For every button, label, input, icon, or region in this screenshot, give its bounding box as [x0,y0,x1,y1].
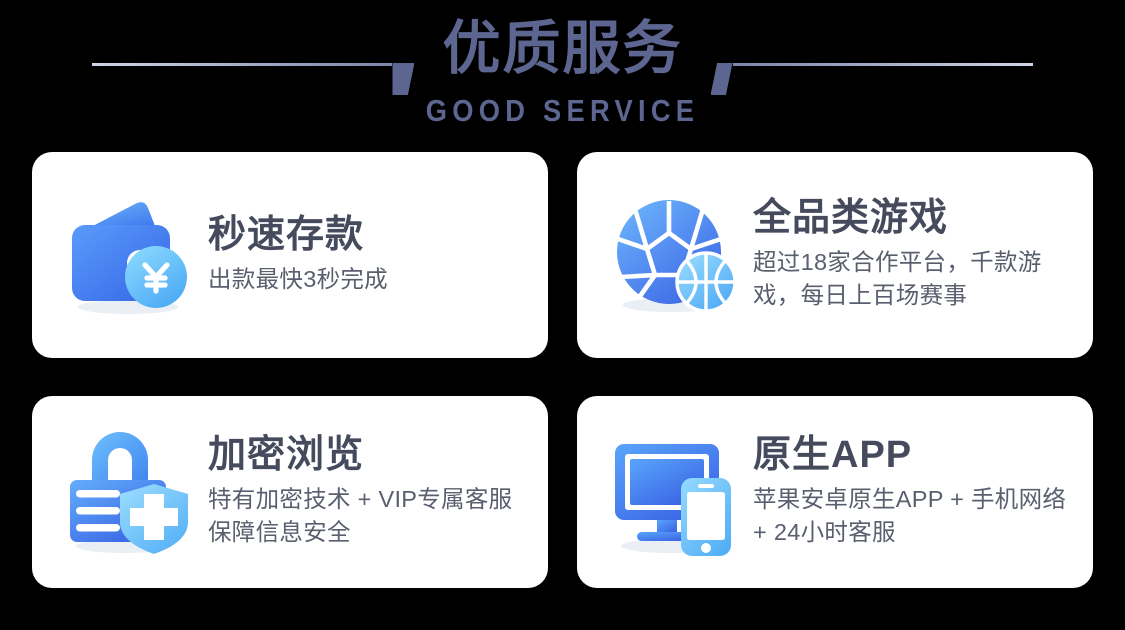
card-text-block: 全品类游戏 超过18家合作平台，千款游戏，每日上百场赛事 [747,197,1093,312]
monitor-phone-icon [607,422,747,562]
card-description: 苹果安卓原生APP + 手机网络 + 24小时客服 [753,483,1073,550]
decoration-slash-right [711,63,733,95]
page-title: 优质服务 [428,20,696,78]
soccer-basketball-icon [607,185,747,325]
card-title: 秒速存款 [208,214,534,257]
card-title: 加密浏览 [208,434,534,477]
card-description: 出款最快3秒完成 [208,263,534,296]
wallet-yen-icon [62,185,202,325]
decoration-slash-left [392,63,414,95]
card-text-block: 加密浏览 特有加密技术 + VIP专属客服保障信息安全 [202,434,548,549]
header-decoration-right [697,19,1065,79]
feature-card-deposit[interactable]: 秒速存款 出款最快3秒完成 [32,152,548,358]
decoration-line-right [733,63,1033,66]
page-subtitle: GOOD SERVICE [68,95,1058,126]
feature-card-native-app[interactable]: 原生APP 苹果安卓原生APP + 手机网络 + 24小时客服 [577,396,1093,588]
card-text-block: 原生APP 苹果安卓原生APP + 手机网络 + 24小时客服 [747,434,1093,549]
header-decoration-left [60,19,428,79]
service-feature-banner: 优质服务 GOOD SERVICE [0,0,1125,630]
card-title: 全品类游戏 [753,197,1079,240]
decoration-line-left [92,63,392,66]
card-description: 特有加密技术 + VIP专属客服保障信息安全 [208,483,528,550]
title-row: 优质服务 [0,8,1125,90]
feature-card-games[interactable]: 全品类游戏 超过18家合作平台，千款游戏，每日上百场赛事 [577,152,1093,358]
card-title: 原生APP [753,434,1079,477]
feature-card-grid: 秒速存款 出款最快3秒完成 [32,152,1093,588]
lock-shield-icon [62,422,202,562]
banner-header: 优质服务 GOOD SERVICE [0,0,1125,150]
card-text-block: 秒速存款 出款最快3秒完成 [202,214,548,296]
feature-card-encryption[interactable]: 加密浏览 特有加密技术 + VIP专属客服保障信息安全 [32,396,548,588]
card-description: 超过18家合作平台，千款游戏，每日上百场赛事 [753,246,1073,313]
